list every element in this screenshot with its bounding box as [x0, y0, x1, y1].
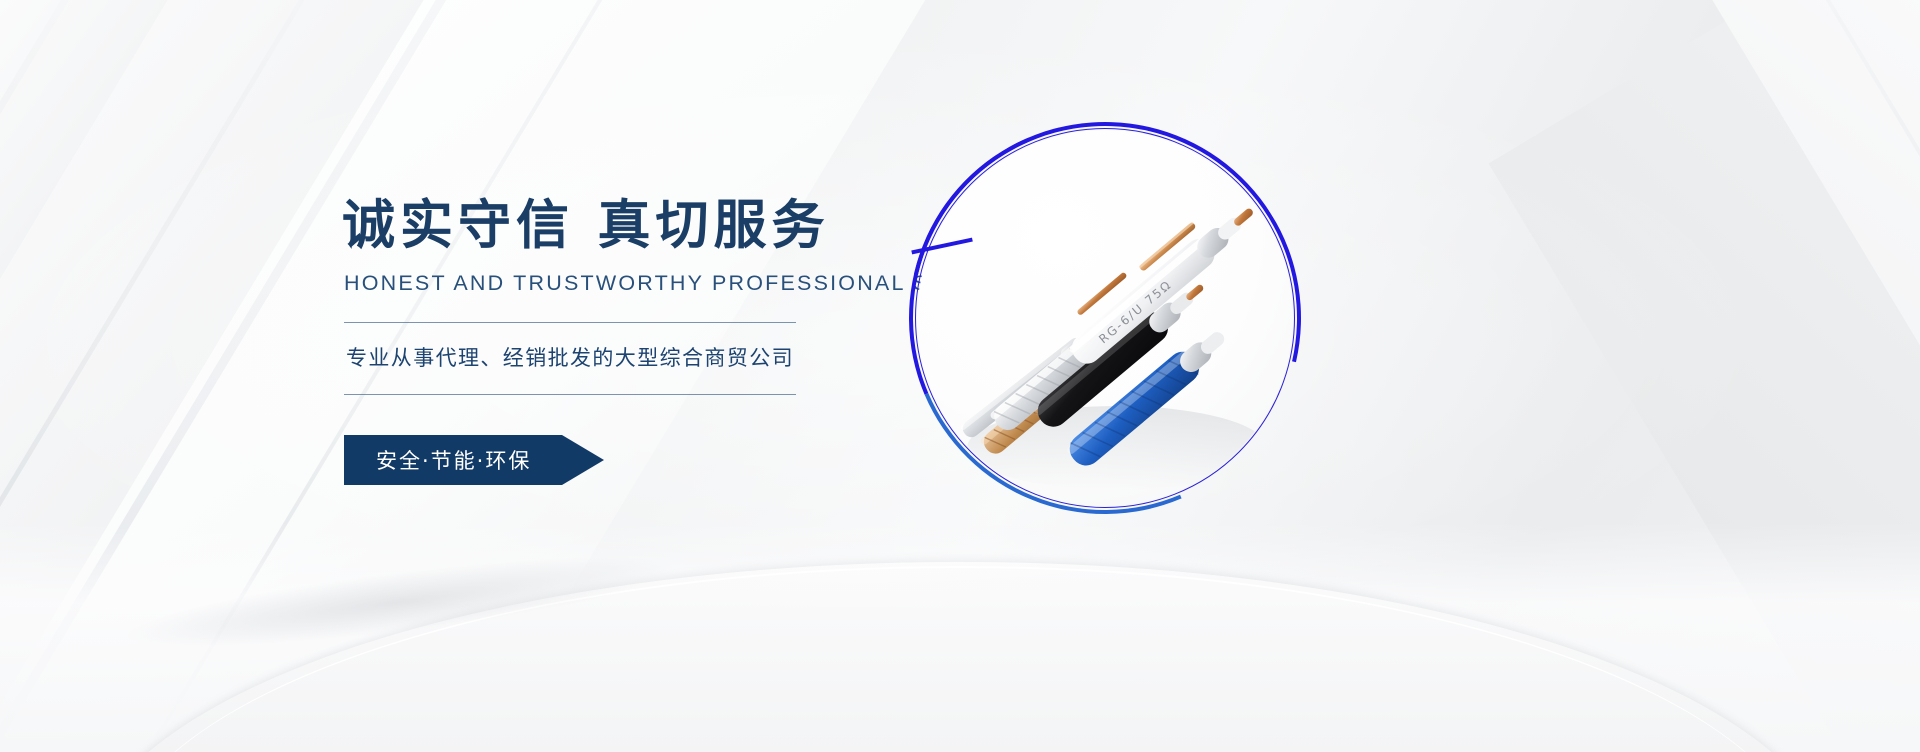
divider-top [344, 322, 796, 323]
banner-description: 专业从事代理、经销批发的大型综合商贸公司 [346, 342, 902, 372]
banner-tag-wrapper: 安全·节能·环保 [344, 435, 604, 485]
banner-subheadline: HONEST AND TRUSTWORTHY PROFESSIONAL SERV… [344, 271, 902, 296]
divider-bottom [344, 394, 796, 395]
banner-headline: 诚实守信 真切服务 [342, 196, 902, 257]
product-circle-graphic: RG-6/U 75Ω [905, 118, 1305, 518]
banner-text-block: 诚实守信 真切服务 HONEST AND TRUSTWORTHY PROFESS… [342, 196, 902, 485]
hero-banner: 诚实守信 真切服务 HONEST AND TRUSTWORTHY PROFESS… [0, 0, 1920, 752]
feature-tag-badge[interactable]: 安全·节能·环保 [344, 435, 604, 485]
feature-tag-label: 安全·节能·环保 [376, 445, 531, 475]
